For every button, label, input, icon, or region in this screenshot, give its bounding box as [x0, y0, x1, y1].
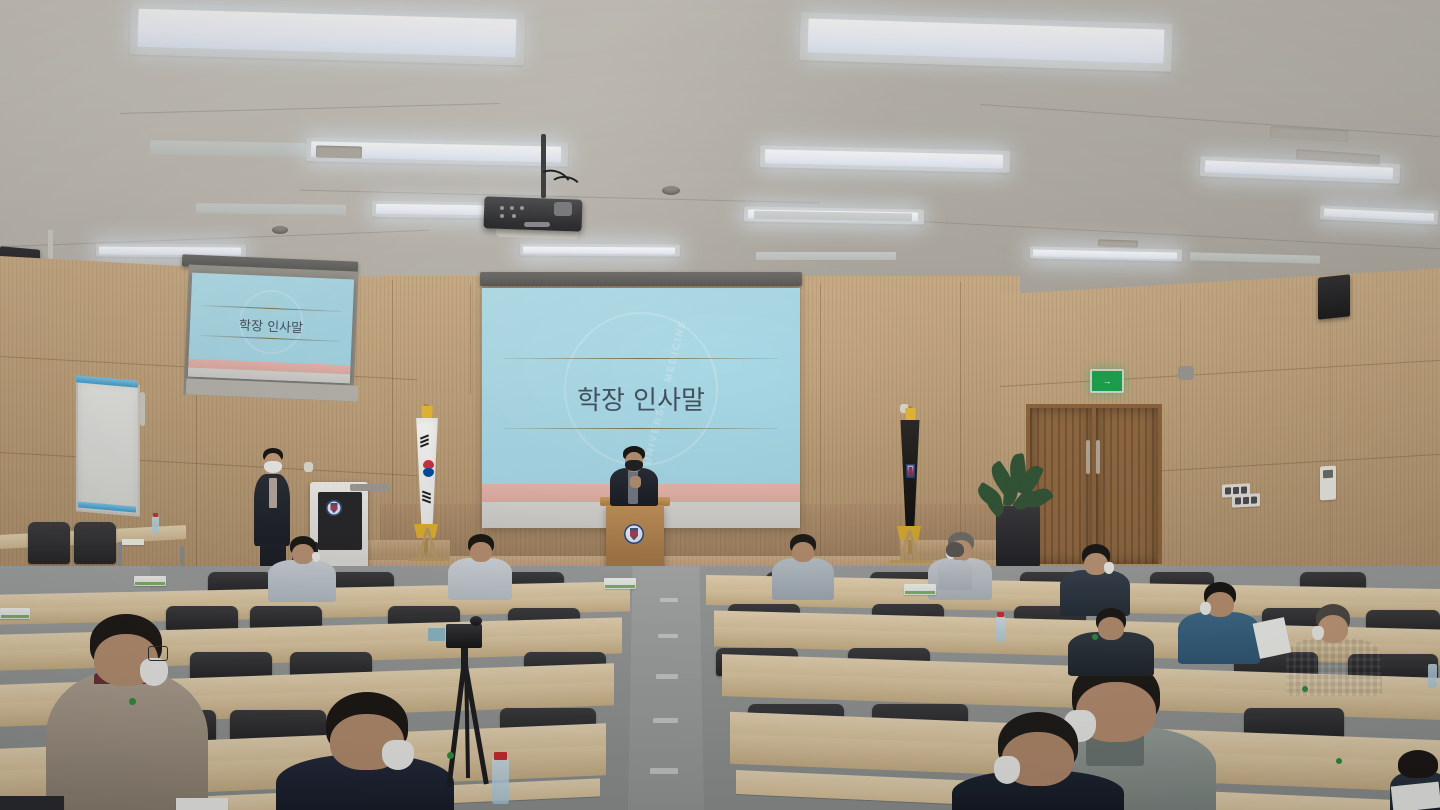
paper-on-table — [122, 539, 144, 545]
audience-hair — [946, 542, 964, 557]
ceiling-vent — [316, 146, 362, 159]
wall-seam — [1330, 312, 1331, 582]
name-placard — [0, 608, 30, 619]
water-bottle — [996, 616, 1005, 642]
aisle-step-marker — [658, 634, 678, 638]
main-screen-case — [480, 272, 802, 286]
desk-marker-dot — [1302, 686, 1308, 692]
wall-seam — [470, 284, 471, 394]
video-camera — [446, 624, 482, 648]
name-placard — [904, 584, 936, 595]
korean-national-flag — [410, 418, 444, 530]
wall-speaker-right — [1318, 274, 1350, 319]
audience-aisle-left — [938, 542, 972, 586]
audience-mask — [382, 740, 414, 770]
camera-lens — [470, 616, 482, 626]
door-handle — [1086, 440, 1090, 474]
water-bottle — [152, 516, 159, 534]
audience-hair — [1398, 750, 1438, 778]
camera-viewfinder — [428, 628, 445, 641]
aisle-step-marker — [656, 674, 678, 679]
door-right-leaf — [1096, 408, 1158, 564]
side-chair[interactable] — [28, 522, 70, 564]
audience-near-right — [952, 712, 1124, 810]
audience-mask — [140, 658, 168, 686]
wall-outlet — [1232, 493, 1260, 507]
main-slide-title: 학장 인사말 — [482, 380, 800, 417]
audience-front-left-2 — [448, 534, 512, 596]
flag-stand-korean — [404, 528, 452, 562]
exit-sign-glyph: → — [1103, 377, 1112, 386]
ceiling-light — [99, 247, 241, 256]
audience-torso — [1286, 638, 1382, 696]
projector-indicator — [500, 214, 504, 218]
plant-pot — [996, 506, 1040, 568]
water-bottle — [1428, 664, 1437, 688]
speaker-at-podium — [606, 446, 662, 504]
aisle-step-marker — [653, 718, 678, 723]
audience-front-left — [268, 536, 336, 598]
audience-mask — [312, 552, 320, 562]
speaker-hand — [630, 476, 641, 488]
audience-torso — [448, 558, 512, 600]
audience-mask — [1104, 562, 1114, 574]
audience-mask — [1312, 626, 1324, 640]
desk-marker-dot — [129, 698, 136, 705]
projector-lens — [554, 202, 572, 216]
slide-rule-top — [504, 358, 777, 359]
desk-marker-dot — [447, 752, 454, 759]
lecture-hall-photo: 학장 인사말 WONKWANG UNIVERSITY MEDICINE WONK… — [0, 0, 1440, 810]
wall-control-panel[interactable] — [1320, 466, 1336, 501]
audience-coat — [46, 670, 208, 810]
name-placard — [134, 576, 166, 586]
name-placard — [604, 578, 636, 589]
audience-mask — [1200, 602, 1211, 615]
projector-indicator — [512, 214, 516, 218]
audience-right-3 — [1178, 582, 1260, 658]
ceiling-light-dim — [756, 252, 896, 260]
audience-right-4 — [1286, 604, 1382, 690]
projector-label — [524, 222, 550, 227]
desk-marker-dot — [1336, 758, 1342, 764]
flag-stand-university — [886, 530, 934, 564]
side-chair[interactable] — [74, 522, 116, 564]
water-bottle-cap — [494, 752, 507, 760]
audience-torso — [1178, 612, 1260, 664]
audience-mask — [994, 756, 1020, 784]
staff-tie — [269, 478, 277, 508]
device-on-desk — [0, 796, 64, 810]
ceiling-light-dim — [196, 203, 346, 215]
water-bottle-cap — [997, 612, 1004, 617]
wall-whiteboard — [76, 379, 140, 517]
aisle-step-marker — [650, 768, 678, 774]
wall-seam — [1180, 300, 1181, 580]
podium-crest — [624, 524, 644, 544]
water-bottle-cap — [153, 513, 158, 517]
projector-indicator — [510, 206, 514, 210]
speaker-mask — [625, 460, 643, 471]
audience-head — [292, 544, 314, 564]
water-bottle — [492, 758, 509, 804]
side-slide-title: 학장 인사말 — [190, 313, 353, 339]
audience-near-left — [276, 692, 454, 810]
av-console-crest — [326, 500, 342, 516]
projector-indicator — [500, 206, 504, 210]
audience-head — [1098, 617, 1124, 640]
paper-handout — [176, 798, 228, 810]
av-console-shelf — [350, 484, 390, 491]
audience-right-2 — [1060, 544, 1130, 612]
paper-handout — [1391, 782, 1440, 810]
aisle-step-marker — [660, 598, 678, 602]
audience-mid-center — [1068, 608, 1154, 670]
desk-marker-dot — [1092, 634, 1098, 640]
ceiling-vent — [1098, 239, 1138, 247]
audience-center-right — [772, 534, 834, 596]
ceiling-speaker — [662, 186, 680, 195]
university-flag — [893, 420, 927, 532]
audience-glasses — [148, 646, 168, 661]
audience-head — [470, 542, 492, 562]
ceiling-light — [523, 246, 675, 254]
whiteboard-edge — [140, 392, 145, 426]
staff-mask — [264, 461, 282, 473]
audience-torso — [772, 558, 834, 600]
wall-sensor — [1178, 366, 1194, 380]
audience-torso — [938, 560, 972, 590]
door-handle — [1096, 440, 1100, 474]
slide-rule-bottom — [504, 428, 777, 429]
audience-head — [792, 542, 814, 562]
emergency-exit-sign: → — [1090, 369, 1124, 393]
projector-indicator — [520, 206, 524, 210]
wall-switch[interactable] — [304, 462, 313, 472]
ceiling-speaker — [272, 226, 288, 234]
audience-torso — [268, 560, 336, 602]
audience-mid-left — [46, 614, 208, 810]
side-screen-slide: 학장 인사말 — [188, 273, 354, 384]
